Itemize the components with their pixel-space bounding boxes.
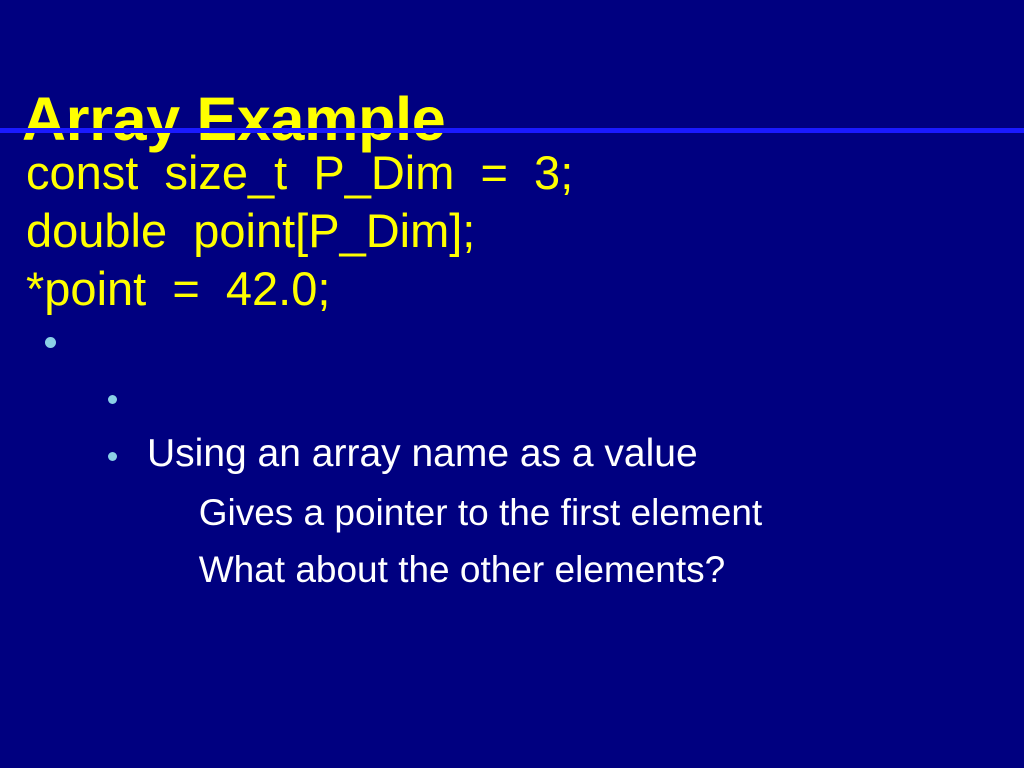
code-block: const size_t P_Dim = 3; double point[P_D… [26,144,986,318]
list-item: Gives a pointer to the first element [0,370,1024,427]
bullet-dot-icon [45,337,56,348]
list-item-label: Gives a pointer to the first element [199,484,763,541]
page-title: Array Example [22,85,445,153]
bullet-dot-icon [108,395,117,404]
code-line: *point = 42.0; [26,260,986,318]
code-line: double point[P_Dim]; [26,202,986,260]
slide-canvas: Array Example const size_t P_Dim = 3; do… [0,0,1024,768]
list-item: Using an array name as a value [0,314,1024,370]
bullet-list: Using an array name as a value Gives a p… [0,314,1024,484]
bullet-dot-icon [108,452,117,461]
list-item: What about the other elements? [0,427,1024,484]
code-line: const size_t P_Dim = 3; [26,144,986,202]
list-item-label: What about the other elements? [199,541,726,598]
title-divider-rule [0,128,1024,133]
